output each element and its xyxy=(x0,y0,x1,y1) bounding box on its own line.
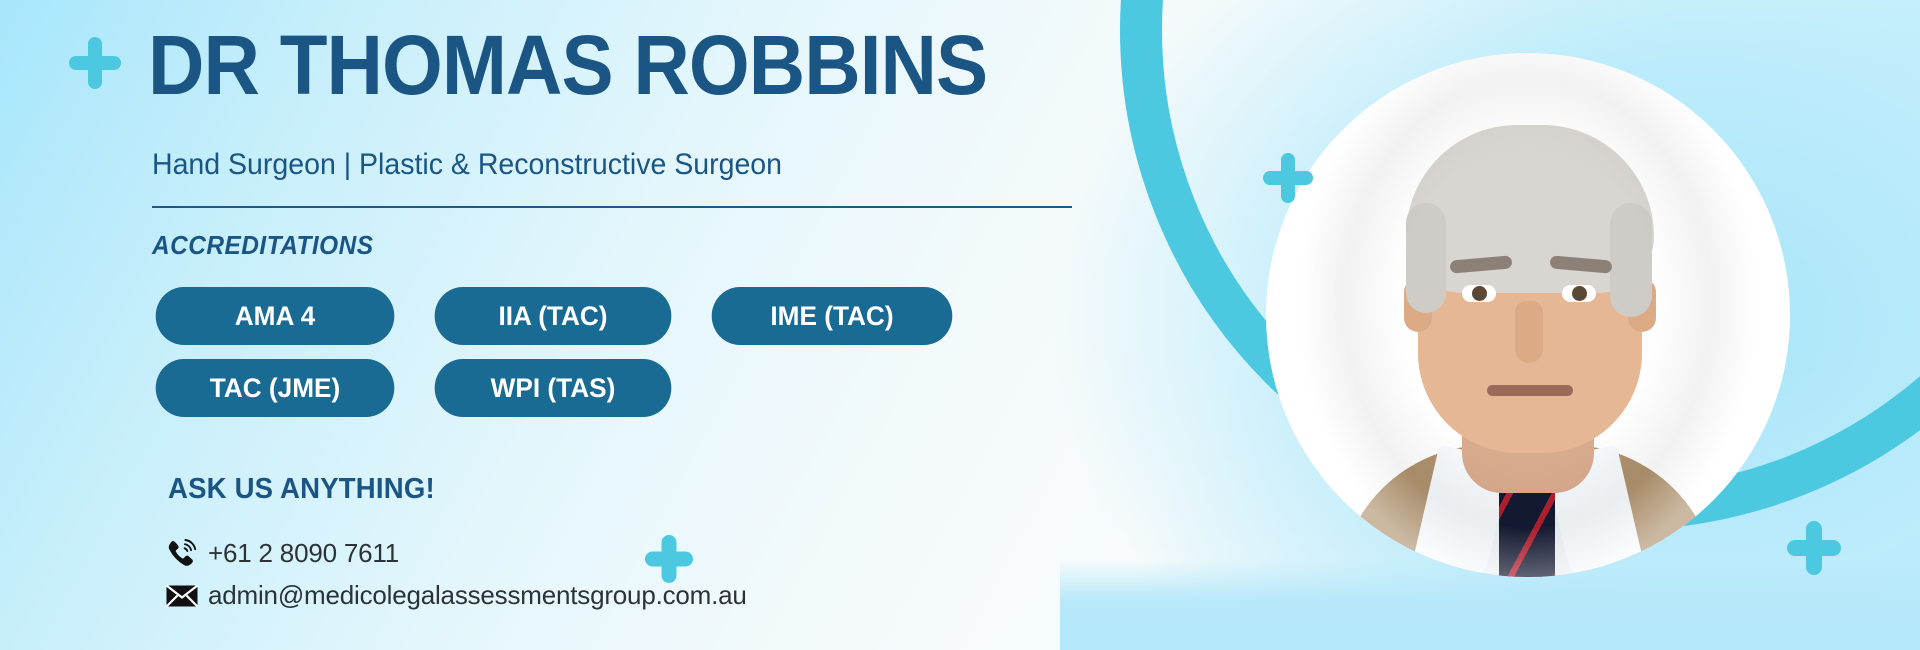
banner-content: DR THOMAS ROBBINS Hand Surgeon | Plastic… xyxy=(0,0,1120,650)
accreditation-badge-ama4[interactable]: AMA 4 xyxy=(156,287,395,345)
accreditations-label: ACCREDITATIONS xyxy=(152,230,374,261)
plus-icon-bottom-right xyxy=(1787,521,1841,575)
accreditations-row-1: AMA 4 IIA (TAC) IME (TAC) xyxy=(152,287,992,345)
contact-phone-row[interactable]: +61 2 8090 7611 xyxy=(166,538,747,569)
contact-phone-number: +61 2 8090 7611 xyxy=(208,538,399,569)
accreditation-badge-ime-tac[interactable]: IME (TAC) xyxy=(712,287,953,345)
cta-heading: ASK US ANYTHING! xyxy=(168,473,435,506)
accreditation-badge-iia-tac[interactable]: IIA (TAC) xyxy=(435,287,672,345)
accreditation-badge-tac-jme[interactable]: TAC (JME) xyxy=(156,359,395,417)
doctor-profile-banner: DR THOMAS ROBBINS Hand Surgeon | Plastic… xyxy=(0,0,1920,650)
portrait-vignette xyxy=(1266,53,1790,577)
phone-ringing-icon xyxy=(166,539,208,569)
portrait-photo xyxy=(1266,53,1790,577)
accreditations-list: AMA 4 IIA (TAC) IME (TAC) TAC (JME) WPI … xyxy=(152,287,992,431)
plus-icon-arc xyxy=(1263,153,1313,203)
contact-email-address: admin@medicolegalassessmentsgroup.com.au xyxy=(208,580,747,611)
accreditation-badge-wpi-tas[interactable]: WPI (TAS) xyxy=(435,359,672,417)
contact-email-row[interactable]: admin@medicolegalassessmentsgroup.com.au xyxy=(166,580,747,611)
page-title: DR THOMAS ROBBINS xyxy=(148,23,987,107)
accreditations-row-2: TAC (JME) WPI (TAS) xyxy=(152,359,992,417)
page-subtitle: Hand Surgeon | Plastic & Reconstructive … xyxy=(152,148,782,182)
divider xyxy=(152,206,1072,208)
doctor-portrait xyxy=(1266,53,1790,577)
envelope-icon xyxy=(166,581,208,611)
contact-details: +61 2 8090 7611 admin@medicolegalassessm… xyxy=(166,538,747,622)
